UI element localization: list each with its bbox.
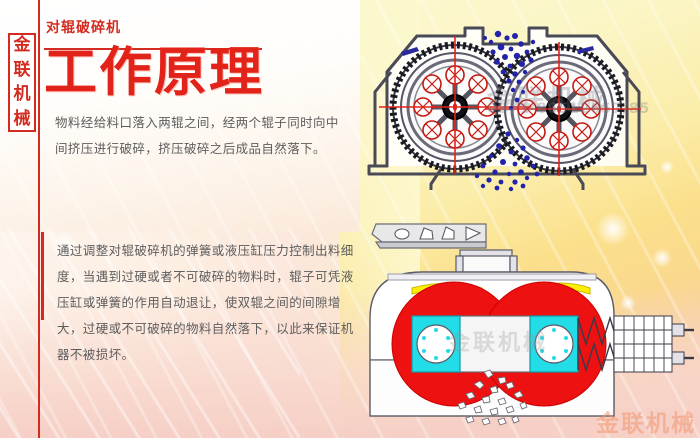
header-subtitle: 对辊破碎机: [46, 17, 121, 37]
paragraph-pressure-control: 通过调整对辊破碎机的弹簧或液压缸压力控制出料细度，当遇到过硬或者不可破碎的物料时…: [57, 238, 357, 368]
adjustment-frame: [614, 316, 694, 372]
brand-logo-char: 机: [14, 86, 31, 103]
infographic-canvas: 金 联 机 械 对辊破碎机 工作原理 物料经给料口落入两辊之间，经两个辊子同时向…: [0, 0, 700, 438]
crusher-cross-section-diagram: [365, 14, 695, 204]
brand-logo-char: 联: [14, 62, 31, 79]
brand-logo-char: 金: [14, 37, 31, 54]
page-title: 工作原理: [44, 44, 264, 101]
brand-logo-badge: 金 联 机 械: [8, 33, 36, 132]
paragraph-working-principle: 物料经给料口落入两辊之间，经两个辊子同时向中间挤压进行破碎，挤压破碎之后成品自然…: [55, 110, 340, 162]
feeder-chute: [372, 224, 486, 248]
left-vertical-rule: [38, 0, 40, 438]
bearing-block-right: [530, 316, 578, 372]
brand-logo-char: 械: [14, 111, 31, 128]
paragraph-accent-bar: [41, 232, 44, 320]
bearing-block-left: [412, 316, 460, 372]
crusher-machine-illustration: [362, 212, 700, 438]
